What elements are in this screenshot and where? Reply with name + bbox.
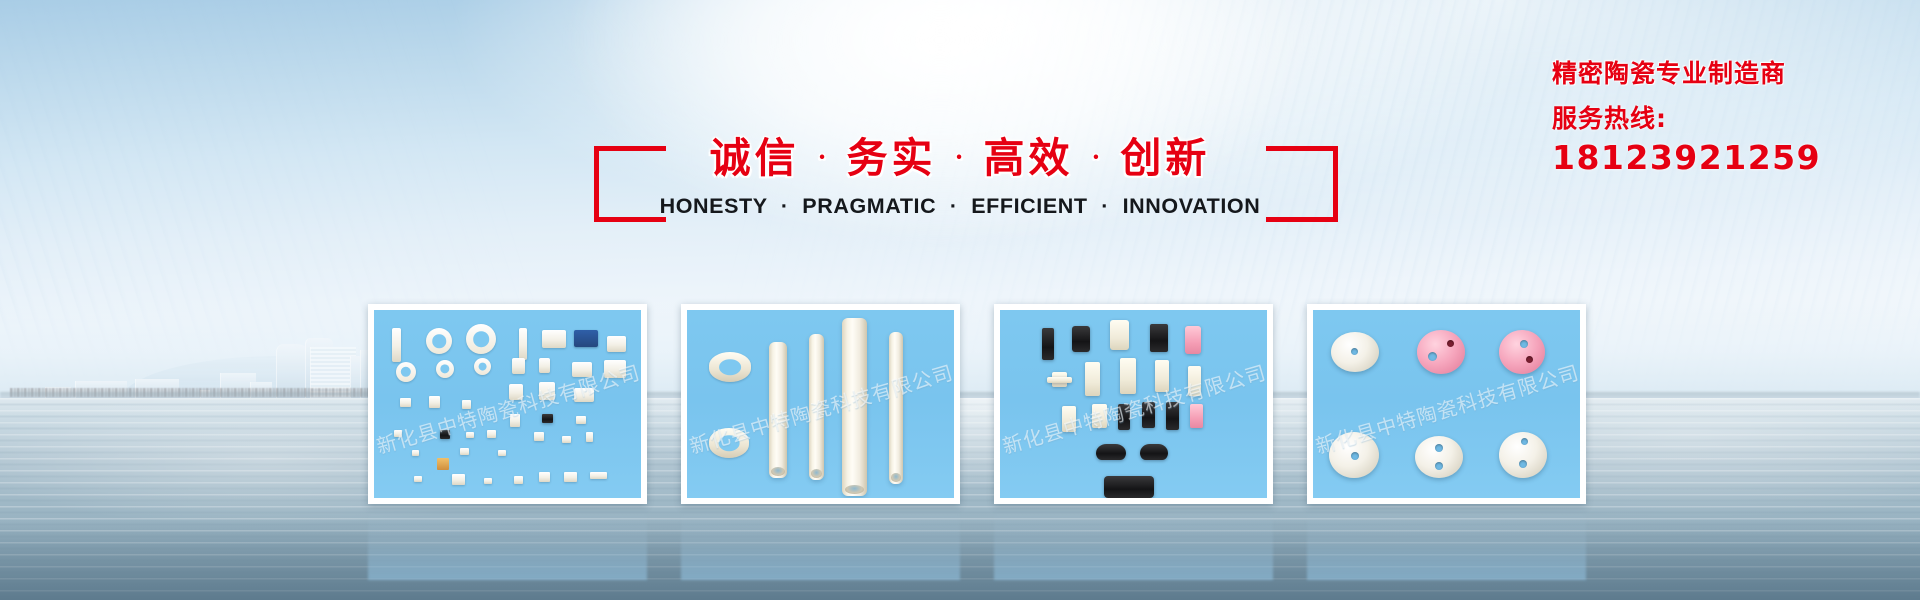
ceramic-disc (1499, 432, 1547, 478)
part (574, 330, 598, 347)
part (509, 384, 523, 400)
part (1142, 402, 1155, 428)
part (562, 436, 571, 443)
headline-block: 诚信 · 务实 · 高效 · 创新 HONESTY · PRAGMATIC · … (560, 128, 1360, 238)
water-foreground-shadow (0, 520, 1920, 600)
disc-hole (1520, 340, 1528, 348)
panel-reflection-3 (994, 510, 1273, 580)
part (462, 400, 471, 409)
part (392, 328, 401, 362)
disc-hole (1447, 340, 1454, 347)
panel-reflection-2 (681, 510, 960, 580)
part (1092, 404, 1107, 428)
hero-banner: 诚信 · 务实 · 高效 · 创新 HONESTY · PRAGMATIC · … (0, 0, 1920, 600)
disc-hole (1526, 356, 1533, 363)
part (510, 414, 520, 427)
part (474, 358, 491, 375)
part (534, 432, 544, 441)
product-image-3: 新化县中特陶瓷科技有限公司 (1000, 310, 1267, 498)
slogan-cn-separator-1: · (818, 142, 828, 171)
ceramic-disc (1499, 330, 1545, 374)
part (576, 416, 586, 424)
part (564, 472, 577, 482)
product-panel-smd-ceramic-components[interactable]: 新化县中特陶瓷科技有限公司 (368, 304, 647, 504)
part (1085, 362, 1100, 396)
part (1062, 406, 1076, 432)
slogan-chinese: 诚信 · 务实 · 高效 · 创新 (560, 128, 1360, 187)
part (514, 476, 523, 484)
ceramic-ring (709, 428, 749, 458)
slogan-cn-word-3: 高效 (983, 134, 1073, 182)
part (440, 430, 450, 439)
part (1188, 366, 1201, 396)
part (542, 414, 553, 423)
disc-hole (1435, 462, 1443, 470)
part (452, 474, 465, 485)
part (572, 362, 592, 377)
part (1150, 324, 1168, 352)
hotline-label: 服务热线: (1552, 104, 1882, 134)
slogan-en-separator-2: · (943, 194, 965, 218)
ceramic-disc (1417, 330, 1465, 374)
part (574, 388, 594, 402)
part-block (1104, 476, 1154, 498)
product-image-2: 新化县中特陶瓷科技有限公司 (687, 310, 954, 498)
part-arc (1140, 444, 1168, 460)
part (539, 358, 550, 373)
slogan-en-separator-1: · (774, 194, 796, 218)
ceramic-disc (1329, 432, 1379, 478)
product-image-1: 新化县中特陶瓷科技有限公司 (374, 310, 641, 498)
disc-hole (1428, 352, 1437, 361)
part (414, 476, 422, 482)
part (487, 430, 496, 438)
slogan-en-word-4: INNOVATION (1123, 194, 1261, 218)
slogan-cn-word-4: 创新 (1120, 134, 1210, 182)
slogan-en-word-3: EFFICIENT (971, 194, 1087, 218)
part (1110, 320, 1129, 350)
hotline-number[interactable]: 18123921259 (1552, 138, 1882, 178)
slogan-en-word-1: HONESTY (660, 194, 768, 218)
part (542, 330, 566, 348)
slogan-cn-word-2: 务实 (847, 134, 937, 182)
part (437, 458, 449, 470)
ceramic-ring (709, 352, 751, 382)
part (1190, 404, 1203, 428)
disc-hole (1351, 348, 1358, 355)
part (412, 450, 419, 456)
product-panel-ceramic-structural-parts[interactable]: 新化县中特陶瓷科技有限公司 (994, 304, 1273, 504)
product-panel-ceramic-discs-and-caps[interactable]: 新化县中特陶瓷科技有限公司 (1307, 304, 1586, 504)
part (1072, 326, 1090, 352)
part (429, 396, 440, 408)
part (586, 432, 593, 442)
part (484, 478, 492, 484)
part (460, 448, 469, 455)
ceramic-tube (842, 318, 867, 496)
part-arc (1096, 444, 1126, 460)
part (396, 362, 416, 382)
disc-hole (1521, 438, 1528, 445)
part (512, 358, 525, 374)
product-gallery: 新化县中特陶瓷科技有限公司 新化县中特陶瓷科技有限公司 (368, 304, 1592, 504)
part (466, 324, 496, 354)
disc-hole (1519, 460, 1527, 468)
part (604, 360, 626, 378)
panel-reflection-1 (368, 510, 647, 580)
slogan-english: HONESTY · PRAGMATIC · EFFICIENT · INNOVA… (560, 194, 1360, 219)
ceramic-disc (1331, 332, 1379, 372)
slogan-en-separator-3: · (1094, 194, 1116, 218)
part (539, 472, 550, 482)
part (539, 382, 555, 400)
slogan-cn-word-1: 诚信 (710, 134, 800, 182)
disc-hole (1435, 444, 1443, 452)
company-tagline: 精密陶瓷专业制造商 (1552, 58, 1882, 90)
part (1118, 404, 1130, 430)
part (436, 360, 454, 378)
product-panel-ceramic-tubes-and-rings[interactable]: 新化县中特陶瓷科技有限公司 (681, 304, 960, 504)
part (1155, 360, 1169, 392)
ceramic-tube (769, 342, 787, 478)
part (607, 336, 626, 352)
product-image-4: 新化县中特陶瓷科技有限公司 (1313, 310, 1580, 498)
part (400, 398, 411, 407)
disc-hole (1351, 452, 1359, 460)
part (590, 472, 607, 479)
slogan-en-word-2: PRAGMATIC (802, 194, 936, 218)
ceramic-tube (809, 334, 824, 480)
part-cross (1047, 377, 1072, 383)
part (1042, 328, 1054, 360)
part (519, 328, 527, 360)
ceramic-tube (889, 332, 903, 484)
contact-block: 精密陶瓷专业制造商 服务热线: 18123921259 (1552, 58, 1882, 178)
part (498, 450, 506, 456)
slogan-cn-separator-2: · (955, 142, 965, 171)
slogan-cn-separator-3: · (1092, 142, 1102, 171)
part (1185, 326, 1201, 354)
part (426, 328, 452, 354)
panel-reflection-4 (1307, 510, 1586, 580)
part (1166, 402, 1179, 430)
part (1120, 358, 1136, 394)
part (466, 432, 474, 438)
ceramic-disc (1415, 436, 1463, 478)
part (394, 430, 402, 437)
